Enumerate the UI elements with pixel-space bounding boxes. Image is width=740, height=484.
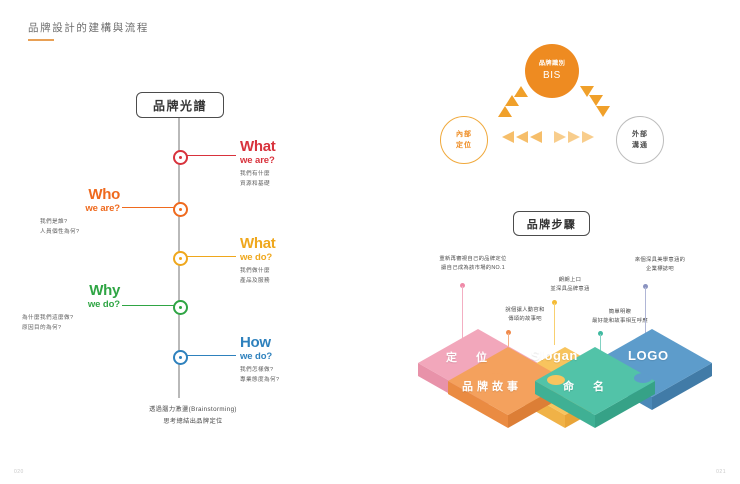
spectrum-caption-line2: 思考總結出品牌定位 xyxy=(118,416,268,428)
folio-right: 021 xyxy=(716,469,726,475)
spectrum-item-4-desc: 為什麼我們這麼做? 原因目的為何? xyxy=(0,314,120,332)
spectrum-item-3-big: What xyxy=(240,236,275,251)
puzzle-label-logo: LOGO xyxy=(628,348,669,363)
spread-page: 品牌設計的建構與流程 020 021 品牌光譜 What we are? 我們有… xyxy=(0,0,740,484)
spectrum-item-5-desc-line2: 專業態度為何? xyxy=(240,376,279,385)
spectrum-item-2-desc-line2: 人員個性為何? xyxy=(40,228,120,237)
spectrum-item-1-desc-line1: 我們有什麼 xyxy=(240,170,275,179)
spectrum-item-4-desc-line1: 為什麼我們這麼做? xyxy=(22,314,120,323)
spectrum-node-3 xyxy=(173,251,188,266)
spectrum-item-5-desc-line1: 我們怎樣做? xyxy=(240,366,279,375)
spectrum-leader-1 xyxy=(184,155,236,157)
spectrum-item-1-big: What xyxy=(240,139,275,154)
spectrum-title-box: 品牌光譜 xyxy=(136,92,224,118)
bis-arrows-left-pointing-icon xyxy=(502,131,542,143)
spectrum-node-4 xyxy=(173,300,188,315)
spectrum-item-1-small: we are? xyxy=(240,155,275,166)
brand-steps-diagram: 品牌步驟 重新再審視自己的品牌定位 讓自己成為該市場的NO.1 說個讓人動容和 … xyxy=(400,200,740,450)
puzzle-label-brand-story: 品牌故事 xyxy=(462,378,522,394)
spectrum-leader-3 xyxy=(184,256,236,258)
spectrum-item-3-desc: 我們做什麼 產品及服務 xyxy=(240,267,275,285)
spectrum-item-5-big: How xyxy=(240,335,279,350)
bis-diagram: 品牌識別 BIS 內部 定位 外部 溝通 xyxy=(420,40,680,180)
brand-spectrum-diagram: 品牌光譜 What we are? 我們有什麼 資源和基礎 Who we are… xyxy=(0,0,370,484)
spectrum-item-4-big: Why xyxy=(0,283,120,298)
spectrum-item-3: What we do? 我們做什麼 產品及服務 xyxy=(240,236,275,286)
spectrum-item-2: Who we are? 我們是誰? 人員個性為何? xyxy=(0,187,120,237)
spectrum-caption: 透過腦力激盪(Brainstorming) 思考總結出品牌定位 xyxy=(118,404,268,428)
spectrum-item-4-desc-line2: 原因目的為何? xyxy=(22,324,120,333)
spectrum-leader-2 xyxy=(122,207,174,209)
puzzle-label-position: 定 位 xyxy=(446,349,491,365)
spectrum-item-3-desc-line2: 產品及服務 xyxy=(240,277,275,286)
bis-arrows-left-up-icon xyxy=(498,86,528,117)
puzzle-graphic xyxy=(400,200,740,450)
spectrum-item-1: What we are? 我們有什麼 資源和基礎 xyxy=(240,139,275,189)
spectrum-item-5-small: we do? xyxy=(240,351,279,362)
spectrum-item-3-small: we do? xyxy=(240,252,275,263)
spectrum-item-2-small: we are? xyxy=(0,203,120,214)
puzzle-label-naming: 命 名 xyxy=(563,378,608,394)
spectrum-leader-5 xyxy=(184,355,236,357)
spectrum-item-1-desc-line2: 資源和基礎 xyxy=(240,180,275,189)
spectrum-item-5-desc: 我們怎樣做? 專業態度為何? xyxy=(240,366,279,384)
spectrum-item-2-desc-line1: 我們是誰? xyxy=(40,218,120,227)
puzzle-label-slogan: Slogan xyxy=(531,348,578,363)
spectrum-node-5 xyxy=(173,350,188,365)
spectrum-node-2 xyxy=(173,202,188,217)
spectrum-item-1-desc: 我們有什麼 資源和基礎 xyxy=(240,170,275,188)
bis-arrows-right-pointing-icon xyxy=(554,131,594,143)
spectrum-item-2-big: Who xyxy=(0,187,120,202)
spectrum-item-3-desc-line1: 我們做什麼 xyxy=(240,267,275,276)
bis-arrow-arcs xyxy=(420,40,680,180)
spectrum-item-2-desc: 我們是誰? 人員個性為何? xyxy=(0,218,120,236)
bis-arrows-right-down-icon xyxy=(580,86,610,117)
spectrum-item-4: Why we do? 為什麼我們這麼做? 原因目的為何? xyxy=(0,283,120,333)
spectrum-item-4-small: we do? xyxy=(0,299,120,310)
spectrum-caption-line1: 透過腦力激盪(Brainstorming) xyxy=(118,404,268,416)
spectrum-leader-4 xyxy=(122,305,174,307)
spectrum-node-1 xyxy=(173,150,188,165)
spectrum-item-5: How we do? 我們怎樣做? 專業態度為何? xyxy=(240,335,279,385)
